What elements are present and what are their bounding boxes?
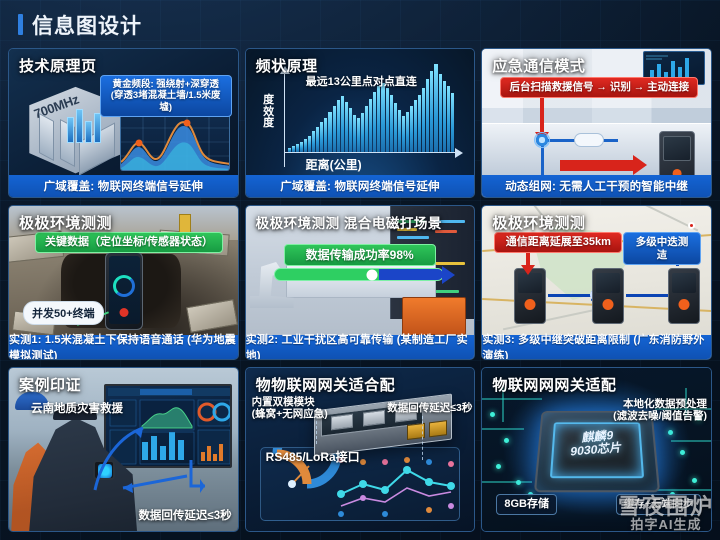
page-header: 信息图设计 bbox=[0, 0, 720, 46]
card-8-title: 物物联网网关适合配 bbox=[256, 374, 396, 395]
relay-phone-3 bbox=[668, 268, 700, 324]
card-extreme-env-test-1[interactable]: 关键数据（定位坐标/传感器状态） 并发50+终端 极极环境测测 实测1: 1.5… bbox=[8, 205, 239, 360]
bar bbox=[430, 71, 433, 152]
battery-module bbox=[402, 297, 466, 335]
card-5-title: 极极环境测测 混合电磁打场景 bbox=[256, 212, 442, 232]
bar bbox=[345, 102, 348, 151]
waveform-svg bbox=[121, 114, 230, 171]
infographic-grid: 700MHz 黄金频段: 强绕射+ bbox=[8, 48, 712, 534]
callout-line-left bbox=[316, 416, 317, 444]
chart-x-axis-label: 距离(公里) bbox=[306, 156, 362, 173]
red-signal-down-arrow bbox=[540, 97, 544, 133]
bar bbox=[333, 106, 336, 152]
bar bbox=[304, 139, 307, 151]
card-4-caption: 实测1: 1.5米混凝土下保持语音通话 (华为地震模拟测试) bbox=[9, 335, 238, 359]
bar bbox=[337, 100, 340, 151]
data-flow-arrows bbox=[87, 404, 217, 494]
card-case-study[interactable]: 云南地质灾害救援 数据回传延迟≤3秒 案例印证 bbox=[8, 367, 239, 532]
bar bbox=[439, 74, 442, 151]
badge-key-data: 关键数据（定位坐标/传感器状态） bbox=[35, 232, 223, 253]
card-3-caption: 动态组网: 无需人工干预的智能中继 bbox=[482, 175, 711, 197]
card-1-caption: 广域覆盖: 物联网终端信号延伸 bbox=[9, 175, 238, 197]
relay-arrow-2 bbox=[626, 294, 670, 297]
card-5-caption: 实测2: 工业干扰区高可靠传输 (某制造工厂实地) bbox=[246, 335, 475, 359]
callout-line-right bbox=[422, 416, 423, 460]
chart-annotation-13km: 最远13公里点对点直连 bbox=[306, 73, 417, 89]
relay-arrow-1 bbox=[548, 294, 592, 297]
chip-model-label: 麒麟9 9030芯片 bbox=[569, 428, 624, 458]
card-frequency-principle[interactable]: 度效度 距离(公里) 最远13公里点对点直连 频状原理 广域覆盖: 物联网终端信… bbox=[245, 48, 476, 198]
bar bbox=[324, 118, 327, 151]
bar bbox=[434, 64, 437, 152]
label-dual-mode-line1: 内置双模模块 bbox=[252, 396, 315, 408]
label-local-preprocessing-line2: (滤波去噪/阈值告警) bbox=[613, 410, 707, 422]
big-red-arrow bbox=[560, 160, 634, 171]
card-tech-principle[interactable]: 700MHz 黄金频段: 强绕射+ bbox=[8, 48, 239, 198]
bar bbox=[365, 106, 368, 152]
badge-golden-band: 黄金频段: 强绕射+深穿透 (穿透3堵混凝土墙/1.5米废墟) bbox=[100, 75, 232, 117]
badge-auto-scan-flow: 后台扫描救援信号 → 识别 → 主动连接 bbox=[500, 77, 698, 98]
watermark-line2: 拍字AI生成 bbox=[618, 518, 714, 532]
label-latency: 数据回传延迟≤3秒 bbox=[138, 507, 231, 523]
bar bbox=[394, 103, 397, 151]
bar bbox=[443, 81, 446, 151]
card-6-title: 极极环境测测 bbox=[492, 212, 585, 233]
label-dual-mode: 内置双模模块 (蜂窝+无网应急) bbox=[252, 396, 328, 420]
label-yunnan-rescue: 云南地质灾害救援 bbox=[31, 400, 123, 416]
bar bbox=[418, 95, 421, 151]
relay-phone-1 bbox=[514, 268, 546, 324]
card-7-title: 案例印证 bbox=[19, 374, 81, 395]
bar bbox=[341, 96, 344, 151]
watermark-line1: 雪夜围炉 bbox=[618, 495, 714, 518]
bar bbox=[373, 92, 376, 152]
badge-distance-35km: 通信距离延展至35km bbox=[494, 232, 622, 253]
card-6-caption: 实测3: 多级中继突破距离限制 (广东消防野外演练) bbox=[482, 335, 711, 359]
relay-pill bbox=[574, 133, 604, 147]
bar bbox=[361, 113, 364, 152]
bar bbox=[451, 93, 454, 151]
bubble-concurrent-terminals: 并发50+终端 bbox=[23, 301, 104, 325]
end-call-button bbox=[120, 308, 129, 317]
bar bbox=[422, 88, 425, 151]
bar bbox=[390, 95, 393, 151]
bar bbox=[292, 146, 295, 151]
red-arrow-to-phone bbox=[526, 252, 530, 266]
bar bbox=[369, 99, 372, 152]
bar bbox=[300, 142, 303, 152]
badge-golden-band-line2: (穿透3堵混凝土墙/1.5米废墟) bbox=[111, 90, 221, 112]
bar bbox=[402, 116, 405, 151]
bar bbox=[320, 122, 323, 151]
bar bbox=[312, 131, 315, 151]
watermark: 雪夜围炉 拍字AI生成 bbox=[618, 495, 714, 532]
bar bbox=[296, 144, 299, 151]
badge-golden-band-line1: 黄金频段: 强绕射+深穿透 bbox=[112, 79, 218, 90]
relay-phone-2 bbox=[592, 268, 624, 324]
card-extreme-env-test-3[interactable]: 通信距离延展至35km 多级中迭测迼 极极环境测测 实测3: 多级中继突破距离限… bbox=[481, 205, 712, 360]
bar bbox=[447, 86, 450, 151]
page-title: 信息图设计 bbox=[32, 10, 142, 40]
card-iot-gateway-module[interactable]: 内置双模模块 (蜂窝+无网应急) 数据回传延迟≤3秒 RS485/LoRa接口 … bbox=[245, 367, 476, 532]
bar bbox=[381, 83, 384, 152]
card-extreme-env-test-2[interactable]: 数据传输成功率98% 极极环境测测 混合电磁打场景 实测2: 工业干扰区高可靠传… bbox=[245, 205, 476, 360]
card-3-title: 应急通信模式 bbox=[492, 55, 585, 76]
label-dual-mode-line2: (蜂窝+无网应急) bbox=[252, 408, 328, 420]
transmission-success-progress bbox=[274, 268, 444, 281]
relay-link-right bbox=[602, 139, 618, 142]
bar bbox=[398, 110, 401, 151]
bar bbox=[349, 108, 352, 151]
bar bbox=[377, 86, 380, 151]
label-local-preprocessing: 本地化数据预处理 (滤波去噪/阈值告警) bbox=[613, 398, 707, 423]
bar bbox=[357, 118, 360, 151]
bar bbox=[316, 127, 319, 152]
badge-storage: 8GB存储 bbox=[496, 494, 557, 515]
mobile-phone-device bbox=[105, 252, 143, 330]
bar bbox=[406, 112, 409, 152]
card-4-title: 极极环境测测 bbox=[19, 212, 112, 233]
label-local-preprocessing-line1: 本地化数据预处理 bbox=[623, 398, 707, 410]
card-1-title: 技术原理页 bbox=[19, 55, 97, 76]
card-2-caption: 广域覆盖: 物联网终端信号延伸 bbox=[246, 175, 475, 197]
card-9-title: 物联网网网关适配 bbox=[492, 374, 616, 395]
call-progress-ring bbox=[113, 275, 135, 297]
bar bbox=[426, 79, 429, 151]
card-2-title: 频状原理 bbox=[256, 55, 318, 76]
badge-success-rate: 数据传输成功率98% bbox=[284, 244, 436, 266]
chart-y-axis-label: 度效度 bbox=[262, 95, 276, 130]
header-accent-bar bbox=[18, 14, 23, 35]
bar bbox=[414, 100, 417, 151]
label-rs485-lora: RS485/LoRa接口 bbox=[266, 448, 360, 465]
chart-x-axis bbox=[284, 152, 456, 154]
bar bbox=[386, 88, 389, 151]
penetration-waveform-chart bbox=[120, 113, 230, 171]
bar bbox=[288, 148, 291, 152]
bar bbox=[410, 106, 413, 152]
card-emergency-comms[interactable]: 后台扫描救援信号 → 识别 → 主动连接 应急通信模式 动态组网: 无需人工干预… bbox=[481, 48, 712, 198]
bar bbox=[308, 136, 311, 152]
badge-multi-hop-relay: 多级中迭测迼 bbox=[623, 232, 701, 265]
bar bbox=[353, 115, 356, 152]
bar bbox=[328, 112, 331, 152]
label-gateway-latency: 数据回传延迟≤3秒 bbox=[387, 400, 472, 415]
